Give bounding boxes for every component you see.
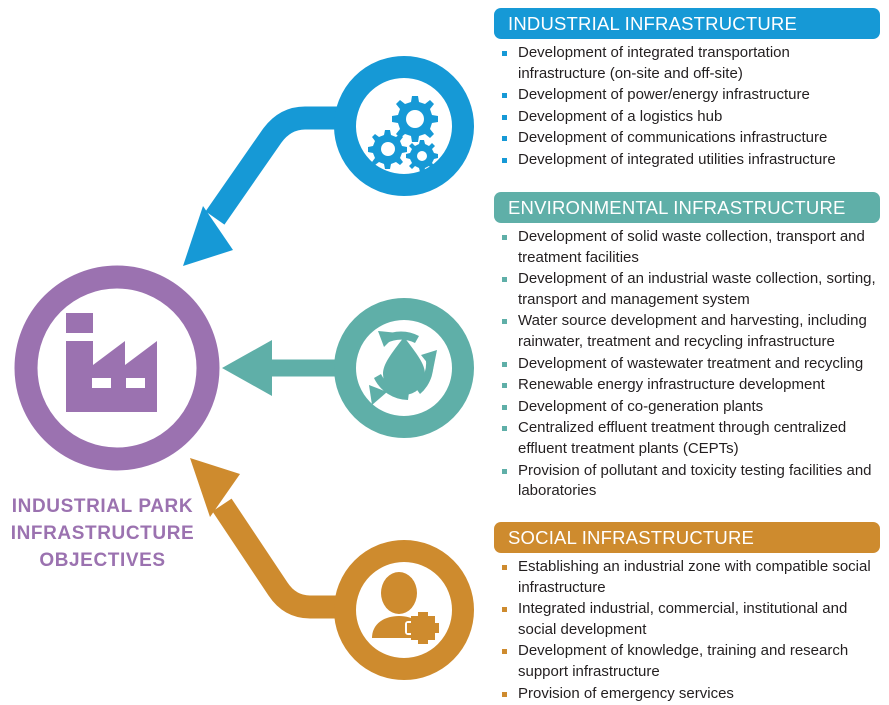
list-item: Renewable energy infrastructure developm… bbox=[494, 375, 880, 396]
list-item: Development of an industrial waste colle… bbox=[494, 269, 880, 310]
bullet-square-icon bbox=[502, 405, 507, 410]
bullet-square-icon bbox=[502, 426, 507, 431]
bullet-square-icon bbox=[502, 649, 507, 654]
bullet-square-icon bbox=[502, 235, 507, 240]
panel-list-social: Establishing an industrial zone with com… bbox=[494, 553, 880, 704]
list-item: Development of knowledge, training and r… bbox=[494, 641, 880, 682]
bullet-square-icon bbox=[502, 115, 507, 120]
bullet-square-icon bbox=[502, 607, 507, 612]
panel-header-industrial: INDUSTRIAL INFRASTRUCTURE bbox=[494, 8, 880, 39]
list-item-text: Development of solid waste collection, t… bbox=[518, 228, 865, 266]
list-item: Integrated industrial, commercial, insti… bbox=[494, 599, 880, 640]
diagram-graphic bbox=[0, 0, 488, 703]
panels-area: INDUSTRIAL INFRASTRUCTURE Development of… bbox=[494, 0, 889, 703]
list-item: Water source development and harvesting,… bbox=[494, 311, 880, 352]
list-item: Development of integrated transportation… bbox=[494, 43, 880, 84]
node-social-icon-circle bbox=[345, 551, 463, 669]
bullet-square-icon bbox=[502, 319, 507, 324]
diagram-area: INDUSTRIAL PARK INFRASTRUCTURE OBJECTIVE… bbox=[0, 0, 488, 703]
list-item-text: Development of integrated utilities infr… bbox=[518, 151, 836, 168]
list-item: Provision of pollutant and toxicity test… bbox=[494, 461, 880, 502]
node-industrial-icon-circle bbox=[345, 67, 463, 185]
list-item: Development of solid waste collection, t… bbox=[494, 227, 880, 268]
list-item: Development of communications infrastruc… bbox=[494, 128, 880, 149]
hub-label-line-3: OBJECTIVES bbox=[0, 547, 205, 574]
panel-list-environmental: Development of solid waste collection, t… bbox=[494, 223, 880, 502]
bullet-square-icon bbox=[502, 158, 507, 163]
panel-header-social: SOCIAL INFRASTRUCTURE bbox=[494, 522, 880, 553]
factory-icon bbox=[66, 313, 157, 412]
bullet-square-icon bbox=[502, 277, 507, 282]
panel-header-environmental: ENVIRONMENTAL INFRASTRUCTURE bbox=[494, 192, 880, 223]
list-item-text: Water source development and harvesting,… bbox=[518, 312, 867, 350]
hub-label-line-2: INFRASTRUCTURE bbox=[0, 520, 205, 547]
list-item-text: Integrated industrial, commercial, insti… bbox=[518, 600, 847, 638]
list-item: Development of wastewater treatment and … bbox=[494, 354, 880, 375]
arrow-industrial-to-hub bbox=[183, 118, 345, 266]
bullet-square-icon bbox=[502, 93, 507, 98]
water-recycle-icon bbox=[369, 331, 437, 405]
list-item: Development of a logistics hub bbox=[494, 107, 880, 128]
bullet-square-icon bbox=[502, 362, 507, 367]
list-item: Provision of emergency services bbox=[494, 684, 880, 705]
list-item-text: Development of knowledge, training and r… bbox=[518, 642, 848, 680]
list-item-text: Development of communications infrastruc… bbox=[518, 129, 827, 146]
list-item: Development of co-generation plants bbox=[494, 397, 880, 418]
panel-environmental: ENVIRONMENTAL INFRASTRUCTURE Development… bbox=[494, 192, 880, 503]
panel-social: SOCIAL INFRASTRUCTURE Establishing an in… bbox=[494, 522, 880, 705]
panel-list-industrial: Development of integrated transportation… bbox=[494, 39, 880, 171]
bullet-square-icon bbox=[502, 383, 507, 388]
list-item-text: Development of integrated transportation… bbox=[518, 44, 790, 82]
panel-industrial: INDUSTRIAL INFRASTRUCTURE Development of… bbox=[494, 8, 880, 172]
list-item-text: Centralized effluent treatment through c… bbox=[518, 419, 846, 457]
list-item: Establishing an industrial zone with com… bbox=[494, 557, 880, 598]
bullet-square-icon bbox=[502, 565, 507, 570]
list-item: Development of power/energy infrastructu… bbox=[494, 85, 880, 106]
gears-icon bbox=[368, 96, 438, 172]
bullet-square-icon bbox=[502, 469, 507, 474]
hub-circle bbox=[26, 277, 208, 459]
arrow-social-to-hub bbox=[190, 458, 345, 607]
hub-label: INDUSTRIAL PARK INFRASTRUCTURE OBJECTIVE… bbox=[0, 493, 205, 574]
infographic-root: INDUSTRIAL PARK INFRASTRUCTURE OBJECTIVE… bbox=[0, 0, 889, 703]
node-environmental-icon-circle bbox=[345, 309, 463, 427]
list-item: Development of integrated utilities infr… bbox=[494, 150, 880, 171]
list-item-text: Development of a logistics hub bbox=[518, 108, 722, 125]
list-item-text: Development of an industrial waste colle… bbox=[518, 270, 876, 308]
bullet-square-icon bbox=[502, 51, 507, 56]
list-item-text: Development of power/energy infrastructu… bbox=[518, 86, 810, 103]
person-plus-icon bbox=[372, 572, 439, 644]
list-item-text: Renewable energy infrastructure developm… bbox=[518, 376, 825, 393]
list-item-text: Development of co-generation plants bbox=[518, 398, 763, 415]
list-item-text: Provision of emergency services bbox=[518, 685, 734, 702]
list-item-text: Development of wastewater treatment and … bbox=[518, 355, 863, 372]
list-item: Centralized effluent treatment through c… bbox=[494, 418, 880, 459]
arrow-environmental-to-hub bbox=[222, 340, 345, 396]
list-item-text: Establishing an industrial zone with com… bbox=[518, 558, 871, 596]
bullet-square-icon bbox=[502, 692, 507, 697]
hub-label-line-1: INDUSTRIAL PARK bbox=[0, 493, 205, 520]
list-item-text: Provision of pollutant and toxicity test… bbox=[518, 462, 872, 500]
bullet-square-icon bbox=[502, 136, 507, 141]
